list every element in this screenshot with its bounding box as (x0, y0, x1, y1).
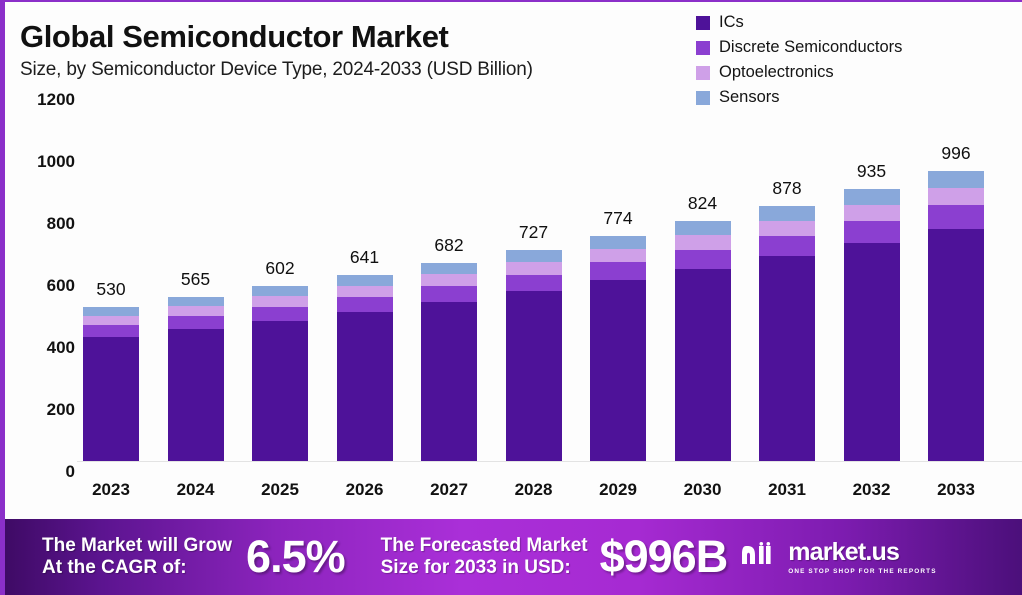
bar-segment-optoelectronics[interactable] (506, 262, 562, 275)
bar-segment-discrete-semiconductors[interactable] (421, 286, 477, 302)
x-axis-tick: 2025 (238, 480, 322, 500)
bar-segment-sensors[interactable] (506, 250, 562, 263)
bar-segment-optoelectronics[interactable] (83, 316, 139, 325)
cagr-block: The Market will Grow At the CAGR of: 6.5… (42, 531, 345, 583)
stacked-bar[interactable] (83, 307, 139, 461)
bar-segment-optoelectronics[interactable] (337, 286, 393, 297)
bar-segment-discrete-semiconductors[interactable] (83, 325, 139, 337)
bar-segment-optoelectronics[interactable] (928, 188, 984, 205)
bar-segment-discrete-semiconductors[interactable] (590, 262, 646, 280)
bar-value-label: 878 (745, 178, 829, 199)
y-axis-tick: 400 (13, 338, 75, 358)
stacked-bar[interactable] (168, 297, 224, 461)
bar-segment-ics[interactable] (759, 256, 815, 461)
bar-segment-discrete-semiconductors[interactable] (506, 275, 562, 292)
forecast-value: $996B (600, 531, 728, 583)
bar-segment-discrete-semiconductors[interactable] (759, 236, 815, 256)
bar-group[interactable]: 824 (675, 112, 731, 461)
bar-segment-sensors[interactable] (168, 297, 224, 307)
bar-group[interactable]: 935 (844, 112, 900, 461)
x-axis-tick: 2029 (576, 480, 660, 500)
bar-segment-sensors[interactable] (759, 206, 815, 221)
x-axis-tick: 2028 (492, 480, 576, 500)
x-axis-tick: 2026 (323, 480, 407, 500)
stacked-bar[interactable] (928, 171, 984, 461)
y-axis-tick: 600 (13, 276, 75, 296)
bar-segment-ics[interactable] (928, 229, 984, 461)
bar-group[interactable]: 602 (252, 112, 308, 461)
x-axis-tick: 2031 (745, 480, 829, 500)
forecast-caption: The Forecasted Market Size for 2033 in U… (381, 535, 588, 580)
bar-segment-ics[interactable] (252, 321, 308, 461)
bar-segment-ics[interactable] (506, 291, 562, 461)
stacked-bar[interactable] (421, 263, 477, 461)
bar-segment-optoelectronics[interactable] (590, 249, 646, 262)
bar-value-label: 530 (69, 279, 153, 300)
y-axis-tick: 0 (13, 462, 75, 482)
y-axis-tick: 800 (13, 214, 75, 234)
bar-group[interactable]: 530 (83, 112, 139, 461)
bar-segment-sensors[interactable] (337, 275, 393, 286)
y-axis-tick: 200 (13, 400, 75, 420)
bar-segment-ics[interactable] (421, 302, 477, 461)
stacked-bar[interactable] (590, 236, 646, 461)
footer-banner: The Market will Grow At the CAGR of: 6.5… (0, 519, 1022, 595)
bar-segment-discrete-semiconductors[interactable] (675, 250, 731, 269)
bar-segment-discrete-semiconductors[interactable] (337, 297, 393, 312)
bar-segment-optoelectronics[interactable] (759, 221, 815, 236)
brand-name: market.us (788, 538, 899, 566)
bar-segment-ics[interactable] (590, 280, 646, 461)
axis-baseline (77, 461, 1022, 462)
bar-segment-sensors[interactable] (675, 221, 731, 235)
bar-group[interactable]: 996 (928, 112, 984, 461)
bar-value-label: 727 (492, 222, 576, 243)
plot-area: 020040060080010001200 530565602641682727… (5, 2, 1022, 522)
bar-segment-discrete-semiconductors[interactable] (844, 221, 900, 243)
bar-group[interactable]: 565 (168, 112, 224, 461)
bar-group[interactable]: 774 (590, 112, 646, 461)
bar-series-container: 530565602641682727774824878935996 (81, 112, 1021, 461)
bar-segment-sensors[interactable] (421, 263, 477, 274)
bar-segment-optoelectronics[interactable] (844, 205, 900, 221)
bar-segment-ics[interactable] (844, 243, 900, 461)
bar-segment-optoelectronics[interactable] (675, 235, 731, 249)
bar-segment-optoelectronics[interactable] (421, 274, 477, 286)
cagr-caption-line2: At the CAGR of: (42, 557, 232, 579)
y-axis-tick: 1200 (13, 90, 75, 110)
y-axis: 020040060080010001200 (13, 100, 75, 472)
x-axis-tick: 2024 (154, 480, 238, 500)
market-us-mark-icon (741, 542, 781, 573)
forecast-block: The Forecasted Market Size for 2033 in U… (381, 531, 728, 583)
bar-value-label: 641 (323, 247, 407, 268)
bar-group[interactable]: 878 (759, 112, 815, 461)
bar-segment-optoelectronics[interactable] (168, 306, 224, 316)
x-axis: 2023202420252026202720282029203020312032… (81, 480, 1021, 506)
stacked-bar[interactable] (252, 286, 308, 461)
bar-group[interactable]: 727 (506, 112, 562, 461)
cagr-caption: The Market will Grow At the CAGR of: (42, 535, 232, 580)
bar-value-label: 824 (661, 193, 745, 214)
bar-segment-sensors[interactable] (83, 307, 139, 316)
stacked-bar[interactable] (675, 221, 731, 461)
bar-value-label: 935 (830, 161, 914, 182)
bar-segment-sensors[interactable] (928, 171, 984, 188)
x-axis-tick: 2027 (407, 480, 491, 500)
stacked-bar[interactable] (506, 250, 562, 461)
y-axis-tick: 1000 (13, 152, 75, 172)
bar-segment-sensors[interactable] (252, 286, 308, 296)
x-axis-tick: 2033 (914, 480, 998, 500)
brand-logo[interactable]: market.us ONE STOP SHOP FOR THE REPORTS (741, 540, 936, 575)
bar-group[interactable]: 641 (337, 112, 393, 461)
bar-value-label: 602 (238, 258, 322, 279)
bar-segment-discrete-semiconductors[interactable] (252, 307, 308, 321)
bar-value-label: 996 (914, 143, 998, 164)
bar-segment-ics[interactable] (83, 337, 139, 461)
brand-tagline: ONE STOP SHOP FOR THE REPORTS (788, 568, 936, 575)
x-axis-tick: 2032 (830, 480, 914, 500)
forecast-caption-line2: Size for 2033 in USD: (381, 557, 588, 579)
bar-segment-sensors[interactable] (844, 189, 900, 205)
cagr-caption-line1: The Market will Grow (42, 535, 232, 557)
bar-segment-ics[interactable] (337, 312, 393, 461)
forecast-caption-line1: The Forecasted Market (381, 535, 588, 557)
stacked-bar[interactable] (759, 206, 815, 461)
cagr-value: 6.5% (246, 531, 345, 583)
stacked-bar[interactable] (337, 275, 393, 461)
stacked-bar[interactable] (844, 189, 900, 461)
bar-segment-discrete-semiconductors[interactable] (928, 205, 984, 228)
brand-text: market.us ONE STOP SHOP FOR THE REPORTS (788, 540, 936, 575)
bar-segment-ics[interactable] (675, 269, 731, 461)
bar-value-label: 774 (576, 208, 660, 229)
x-axis-tick: 2023 (69, 480, 153, 500)
infographic-root: Global Semiconductor Market Size, by Sem… (0, 0, 1022, 595)
bar-value-label: 682 (407, 235, 491, 256)
bar-value-label: 565 (154, 269, 238, 290)
bar-segment-optoelectronics[interactable] (252, 296, 308, 306)
bar-segment-sensors[interactable] (590, 236, 646, 249)
bar-group[interactable]: 682 (421, 112, 477, 461)
bar-segment-discrete-semiconductors[interactable] (168, 316, 224, 329)
bar-segment-ics[interactable] (168, 329, 224, 461)
x-axis-tick: 2030 (661, 480, 745, 500)
